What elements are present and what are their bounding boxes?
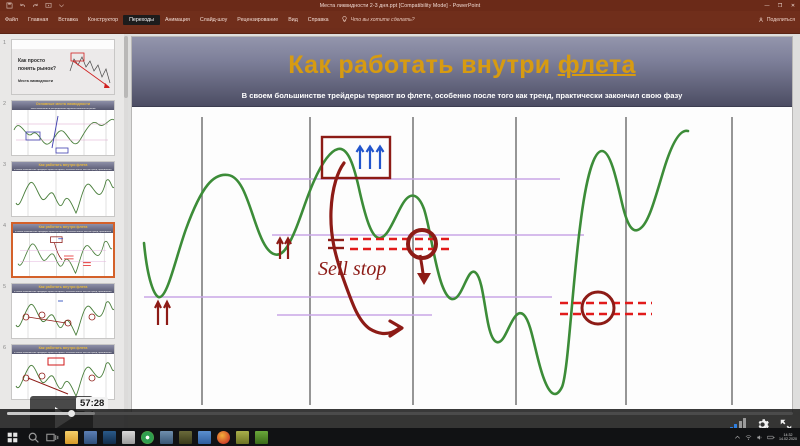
thumb-mini-chart	[13, 233, 115, 278]
list-item[interactable]: 1 Как просто понять рынок? Места ликвидн…	[0, 37, 128, 98]
share-label: Поделиться	[767, 17, 795, 23]
slide-thumb-6[interactable]: Как работать внутри флета В своем больши…	[11, 344, 115, 400]
powerpoint-icon[interactable]	[84, 431, 97, 444]
thumb-number: 2	[3, 100, 11, 107]
tab-insert[interactable]: Вставка	[53, 15, 83, 25]
thumb-canvas	[12, 110, 114, 155]
arrowhead-down	[417, 273, 431, 285]
slide-editor[interactable]: Как работать внутри флета В своем больши…	[128, 34, 800, 428]
photoshop-icon[interactable]	[103, 431, 116, 444]
entry-arrows-mid	[277, 239, 291, 260]
thumb-canvas	[12, 354, 114, 399]
sell-stop-label: Sell stop	[318, 258, 386, 280]
volume-icon[interactable]	[756, 434, 763, 441]
liquidity-zone-lower	[560, 303, 652, 314]
tab-help[interactable]: Справка	[303, 15, 334, 25]
thumb-number: 6	[3, 344, 11, 351]
title-underlined: флета	[558, 51, 636, 79]
progress-played	[7, 412, 71, 415]
close-button[interactable]: ✕	[788, 3, 798, 9]
slide-thumb-1[interactable]: Как просто понять рынок? Места ликвиднос…	[11, 39, 115, 95]
current-slide[interactable]: Как работать внутри флета В своем больши…	[131, 36, 793, 415]
tab-file[interactable]: Файл	[0, 15, 23, 25]
powerpoint-window: Места ликвидности 2-3 дня.ppt [Compatibi…	[0, 0, 800, 428]
clock-date: 14.02.2020	[779, 437, 797, 441]
thumb-header: Основные места ликвидности Зоны накоплен…	[12, 101, 114, 110]
thumb-header: Как работать внутри флета В своем больши…	[12, 162, 114, 171]
thumb-title: Как работать внутри флета	[12, 346, 114, 350]
firefox-icon[interactable]	[217, 431, 230, 444]
thumb-mini-chart	[12, 49, 115, 95]
tab-design[interactable]: Конструктор	[83, 15, 123, 25]
network-icon[interactable]	[745, 434, 752, 441]
ribbon-tab-bar[interactable]: Файл Главная Вставка Конструктор Переход…	[0, 11, 800, 28]
restore-button[interactable]: ❐	[775, 3, 785, 9]
tell-me-search[interactable]: Что вы хотите сделать?	[341, 16, 415, 23]
list-item[interactable]: 6 Как работать внутри флета В своем боль…	[0, 342, 128, 403]
terminal-icon[interactable]	[179, 431, 192, 444]
slide-thumb-4[interactable]: Как работать внутри флета В своем больши…	[11, 222, 115, 278]
thumb-canvas	[13, 233, 113, 276]
list-item[interactable]: 5 Как работать внутри флета В своем боль…	[0, 281, 128, 342]
entry-arrows-left	[155, 302, 170, 325]
progress-handle[interactable]	[68, 410, 75, 417]
work-area: 1 Как просто понять рынок? Места ликвидн…	[0, 34, 800, 428]
tab-transitions[interactable]: Переходы	[123, 15, 160, 25]
chrome-icon[interactable]	[141, 431, 154, 444]
price-chart-canvas[interactable]: Sell stop	[132, 107, 792, 414]
slide-thumbnail-pane[interactable]: 1 Как просто понять рынок? Места ликвидн…	[0, 34, 128, 428]
minimize-button[interactable]: —	[762, 3, 772, 9]
session-separators	[202, 117, 732, 405]
windows-start-icon[interactable]	[0, 432, 24, 443]
thumb-number: 4	[3, 222, 11, 229]
list-item[interactable]: 4 Как работать внутри флета В своем боль…	[0, 220, 128, 281]
lightbulb-icon	[341, 16, 348, 23]
battery-icon[interactable]	[767, 434, 775, 441]
notepad-icon[interactable]	[236, 431, 249, 444]
system-tray[interactable]: 14:32 14.02.2020	[734, 433, 797, 442]
title-bar: Места ликвидности 2-3 дня.ppt [Compatibi…	[0, 0, 800, 11]
taskbar-clock[interactable]: 14:32 14.02.2020	[779, 433, 797, 442]
tab-review[interactable]: Рецензирование	[232, 15, 283, 25]
search-icon[interactable]	[27, 431, 40, 444]
zone-circle-lower	[582, 292, 614, 324]
window-buttons[interactable]: — ❐ ✕	[762, 0, 798, 11]
slide-thumb-2[interactable]: Основные места ликвидности Зоны накоплен…	[11, 100, 115, 156]
thumb-title: Как работать внутри флета	[12, 163, 114, 167]
list-item[interactable]: 2 Основные места ликвидности Зоны накопл…	[0, 98, 128, 159]
three-blue-up-arrows	[357, 147, 384, 170]
thumb-header: Как работать внутри флета В своем больши…	[12, 345, 114, 354]
progress-bar[interactable]	[7, 412, 793, 415]
thumb-mini-chart	[12, 171, 115, 217]
thumb-canvas	[12, 171, 114, 216]
thumb-mini-chart	[12, 354, 115, 400]
file-explorer-icon[interactable]	[65, 431, 78, 444]
title-plain: Как работать внутри	[288, 51, 557, 79]
excel-icon[interactable]	[122, 431, 135, 444]
price-line	[144, 131, 688, 394]
telegram-icon[interactable]	[255, 431, 268, 444]
thumb-number: 5	[3, 283, 11, 290]
thumb-header: Как работать внутри флета В своем больши…	[13, 224, 113, 233]
tab-slideshow[interactable]: Слайд-шоу	[195, 15, 232, 25]
clock-time: 14:32	[784, 433, 793, 437]
window-title: Места ликвидности 2-3 дня.ppt [Compatibi…	[0, 3, 800, 9]
thumb-canvas	[12, 293, 114, 338]
metatrader-icon[interactable]	[160, 431, 173, 444]
slide-thumb-3[interactable]: Как работать внутри флета В своем больши…	[11, 161, 115, 217]
page-title: Как работать внутри флета	[132, 51, 792, 80]
slide-header: Как работать внутри флета В своем больши…	[132, 37, 792, 107]
thumb-number: 1	[3, 39, 11, 46]
thumb-title: Как работать внутри флета	[12, 285, 114, 289]
slide-subtitle: В своем большинстве трейдеры теряют во ф…	[142, 91, 782, 100]
thumb-header: Как работать внутри флета В своем больши…	[12, 284, 114, 293]
thumb-canvas: Как просто понять рынок? Места ликвиднос…	[12, 49, 114, 94]
tell-me-label: Что вы хотите сделать?	[351, 17, 415, 23]
thumb-mini-chart	[12, 110, 115, 156]
chart-svg: Sell stop	[132, 107, 793, 415]
slide-thumb-5[interactable]: Как работать внутри флета В своем больши…	[11, 283, 115, 339]
entry-ticks	[328, 240, 344, 248]
browser-icon[interactable]	[198, 431, 211, 444]
list-item[interactable]: 3 Как работать внутри флета В своем боль…	[0, 159, 128, 220]
task-view-icon[interactable]	[46, 431, 59, 444]
screen: Места ликвидности 2-3 дня.ppt [Compatibi…	[0, 0, 800, 446]
thumb-title: Основные места ликвидности	[12, 102, 114, 106]
tab-animations[interactable]: Анимация	[160, 15, 195, 25]
tab-view[interactable]: Вид	[283, 15, 303, 25]
tab-home[interactable]: Главная	[23, 15, 53, 25]
liquidity-levels	[144, 179, 584, 315]
share-button[interactable]: Поделиться	[758, 17, 795, 23]
thumb-mini-chart	[12, 293, 115, 339]
thumb-title: Как работать внутри флета	[13, 225, 113, 229]
windows-taskbar[interactable]: 14:32 14.02.2020	[0, 428, 800, 446]
thumb-number: 3	[3, 161, 11, 168]
chevron-up-icon[interactable]	[734, 434, 741, 441]
person-icon	[758, 17, 764, 23]
